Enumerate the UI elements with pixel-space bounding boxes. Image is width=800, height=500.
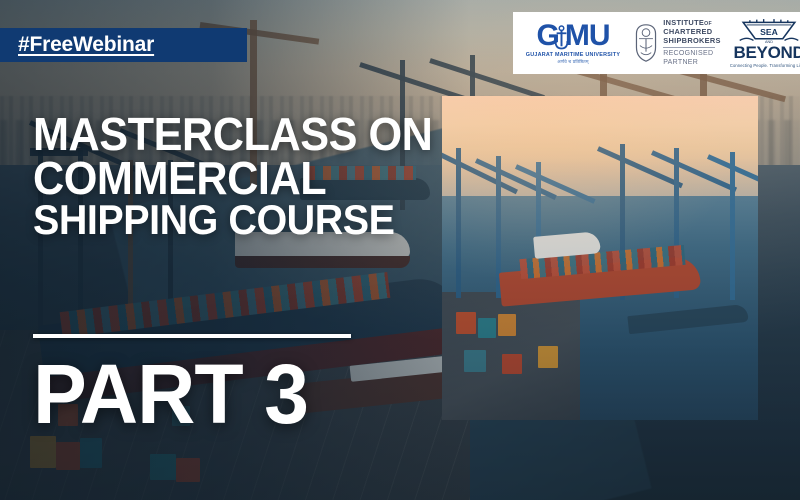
ics-crest-icon: [633, 23, 659, 63]
inset-color-grade: [442, 96, 758, 420]
headline-line-2: COMMERCIAL: [33, 156, 409, 200]
sea-beyond-crest-icon: SEA AND: [738, 18, 800, 44]
gmu-letter-u: U: [589, 21, 610, 51]
sea-beyond-tagline: Connecting People. Transforming Lives.: [730, 63, 800, 68]
headline-line-1: MASTERCLASS ON: [33, 112, 409, 156]
headline-line-3: SHIPPING COURSE: [33, 200, 409, 240]
svg-text:SEA: SEA: [760, 27, 778, 37]
sea-and-beyond-logo: SEA AND BEYOND Connecting People. Transf…: [729, 12, 800, 74]
ics-word-institute: INSTITUTE: [663, 18, 704, 27]
ics-divider: [663, 47, 715, 48]
anchor-icon: [554, 25, 569, 51]
gmu-university-name: GUJARAT MARITIME UNIVERSITY: [526, 52, 620, 58]
inset-port-photo: [442, 96, 758, 420]
gmu-logo: G M U GUJARAT MARITIME UNIVERSITY अर्णवे…: [521, 12, 625, 74]
sea-beyond-wordmark: BEYOND: [734, 44, 800, 61]
ics-line-partner: PARTNER: [663, 59, 721, 67]
ics-line-recognised: RECOGNISED: [663, 50, 721, 58]
partner-logo-strip: G M U GUJARAT MARITIME UNIVERSITY अर्णवे…: [513, 12, 800, 74]
ics-text-block: INSTITUTEOF CHARTERED SHIPBROKERS RECOGN…: [663, 19, 721, 67]
free-webinar-badge: #FreeWebinar: [0, 28, 247, 62]
headline-divider: [33, 334, 351, 338]
gmu-wordmark: G M U: [536, 21, 609, 51]
poster-headline: MASTERCLASS ON COMMERCIAL SHIPPING COURS…: [33, 112, 409, 241]
institute-chartered-shipbrokers-logo: INSTITUTEOF CHARTERED SHIPBROKERS RECOGN…: [631, 12, 723, 74]
ics-line-shipbrokers: SHIPBROKERS: [663, 37, 721, 46]
gmu-motto: अर्णवे च प्रतिष्ठितम्: [557, 59, 588, 65]
part-label: PART 3: [33, 352, 308, 436]
free-webinar-label: #FreeWebinar: [18, 33, 154, 57]
webinar-poster: #FreeWebinar G M U: [0, 0, 800, 500]
